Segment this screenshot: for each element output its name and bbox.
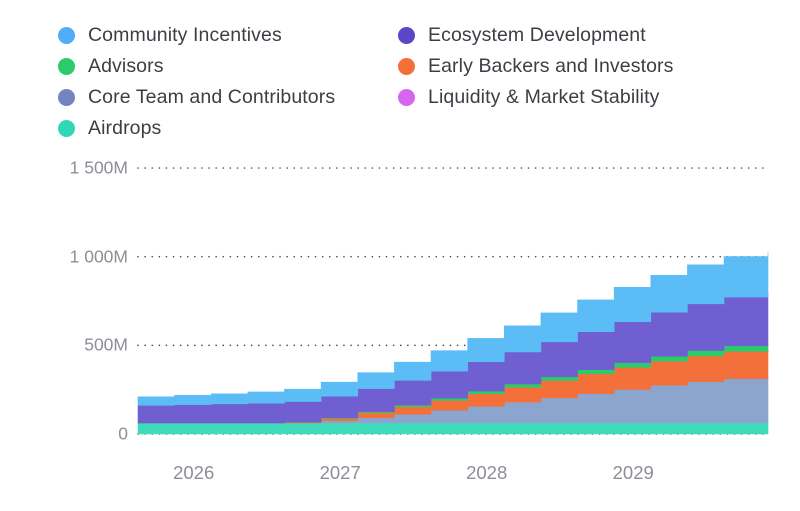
- area-bands: [138, 252, 768, 434]
- y-axis-tick-label: 0: [118, 424, 128, 445]
- x-axis-tick-label: 2029: [613, 462, 654, 484]
- x-axis-tick-label: 2027: [320, 462, 361, 484]
- x-axis-tick-label: 2026: [173, 462, 214, 484]
- y-axis-tick-label: 1 000M: [70, 246, 128, 267]
- y-axis-tick-label: 500M: [84, 335, 128, 356]
- stacked-area-chart: Community Incentives Advisors Core Team …: [0, 0, 800, 511]
- y-axis-tick-label: 1 500M: [70, 158, 128, 179]
- area-band-airdrops[interactable]: [138, 423, 768, 434]
- plot-area: 0500M1 000M1 500M 2026202720282029: [0, 0, 800, 511]
- x-axis-tick-label: 2028: [466, 462, 507, 484]
